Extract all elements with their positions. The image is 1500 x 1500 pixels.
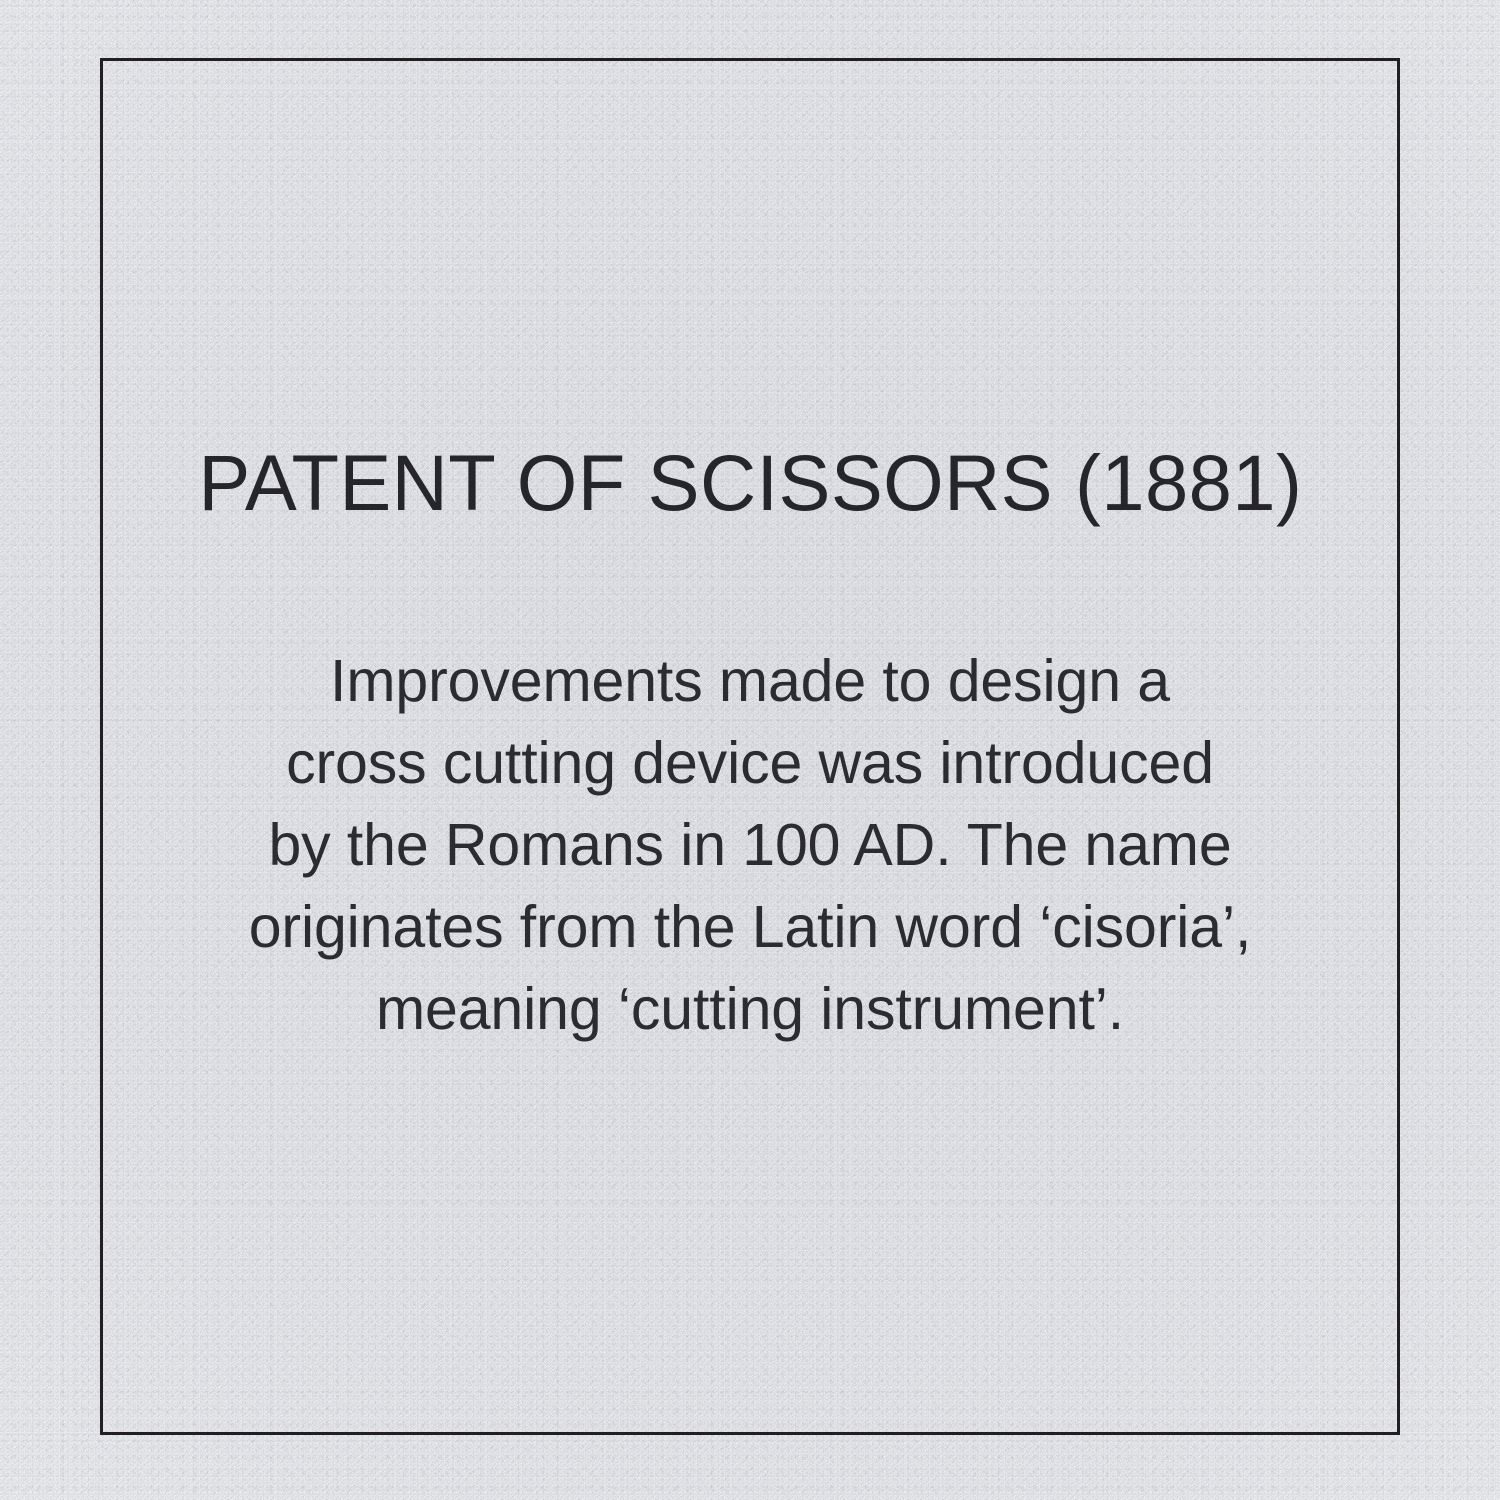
card-content: PATENT OF SCISSORS (1881) Improvements m… xyxy=(100,58,1400,1435)
body-line: by the Romans in 100 AD. The name xyxy=(249,804,1252,886)
card-title: PATENT OF SCISSORS (1881) xyxy=(198,443,1302,522)
body-line: meaning ‘cutting instrument’. xyxy=(249,968,1252,1050)
fact-card: PATENT OF SCISSORS (1881) Improvements m… xyxy=(0,0,1500,1500)
body-line: Improvements made to design a xyxy=(249,640,1252,722)
body-line: cross cutting device was introduced xyxy=(249,722,1252,804)
body-line: originates from the Latin word ‘cisoria’… xyxy=(249,886,1252,968)
card-body-text: Improvements made to design a cross cutt… xyxy=(249,640,1252,1050)
